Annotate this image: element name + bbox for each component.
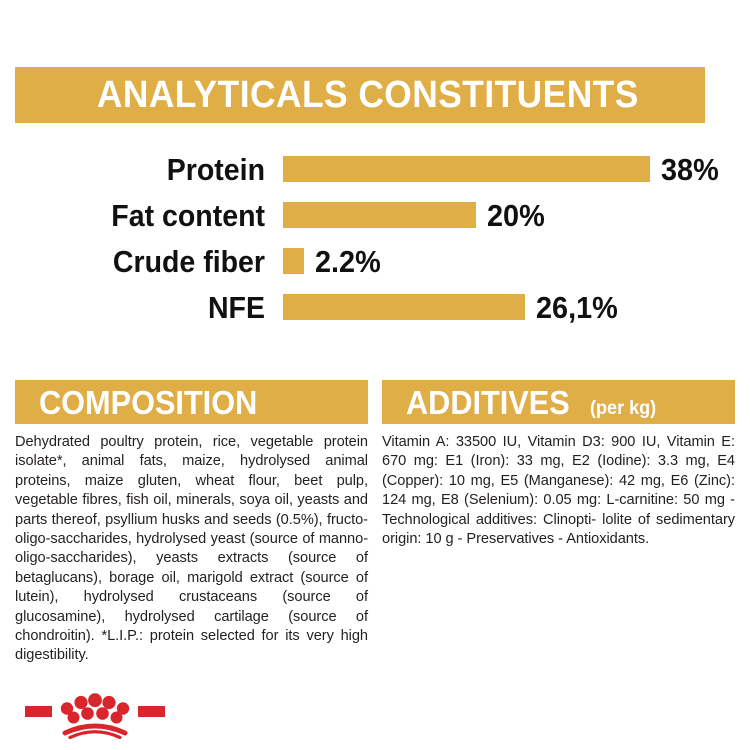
chart-row-crude-fiber: Crude fiber 2.2% <box>0 238 750 284</box>
chart-value-crude-fiber: 2.2% <box>315 246 381 277</box>
composition-banner: COMPOSITION <box>15 380 368 424</box>
additives-title: ADDITIVES <box>406 386 570 419</box>
additives-text: Vitamin A: 33500 IU, Vitamin D3: 900 IU,… <box>382 433 735 549</box>
analytical-constituents-banner: ANALYTICALS CONSTITUENTS <box>15 67 705 123</box>
chart-value-protein: 38% <box>661 154 719 185</box>
chart-label-protein: Protein <box>21 154 265 185</box>
chart-bar-protein <box>283 156 650 182</box>
chart-label-nfe: NFE <box>21 292 265 323</box>
chart-bar-nfe <box>283 294 525 320</box>
additives-body: Vitamin A: 33500 IU, Vitamin D3: 900 IU,… <box>382 433 735 549</box>
chart-value-nfe: 26,1% <box>536 292 618 323</box>
composition-panel: COMPOSITION Dehydrated poultry protein, … <box>15 380 368 666</box>
chart-bar-zone-nfe: 26,1% <box>283 284 624 330</box>
chart-label-fat-content: Fat content <box>21 200 265 231</box>
nutrition-bar-chart: Protein 38% Fat content 20% Crude fiber … <box>0 146 750 330</box>
chart-bar-zone-crude-fiber: 2.2% <box>283 238 386 284</box>
additives-banner: ADDITIVES (per kg) <box>382 380 735 424</box>
chart-bar-fat-content <box>283 202 476 228</box>
additives-subtitle: (per kg) <box>590 399 656 418</box>
info-panels: COMPOSITION Dehydrated poultry protein, … <box>0 380 750 666</box>
royal-canin-crown-logo <box>25 683 165 739</box>
composition-text: Dehydrated poultry protein, rice, vegeta… <box>15 433 368 666</box>
chart-value-fat-content: 20% <box>487 200 545 231</box>
additives-panel: ADDITIVES (per kg) Vitamin A: 33500 IU, … <box>382 380 735 666</box>
chart-bar-crude-fiber <box>283 248 304 274</box>
analytical-constituents-section: ANALYTICALS CONSTITUENTS Protein 38% Fat… <box>0 0 750 352</box>
chart-bar-zone-protein: 38% <box>283 146 723 192</box>
chart-bar-zone-fat-content: 20% <box>283 192 549 238</box>
chart-row-protein: Protein 38% <box>0 146 750 192</box>
chart-label-crude-fiber: Crude fiber <box>21 246 265 277</box>
chart-row-fat-content: Fat content 20% <box>0 192 750 238</box>
chart-row-nfe: NFE 26,1% <box>0 284 750 330</box>
composition-body: Dehydrated poultry protein, rice, vegeta… <box>15 433 368 666</box>
composition-title: COMPOSITION <box>39 386 257 419</box>
analytical-constituents-title: ANALYTICALS CONSTITUENTS <box>15 74 639 117</box>
